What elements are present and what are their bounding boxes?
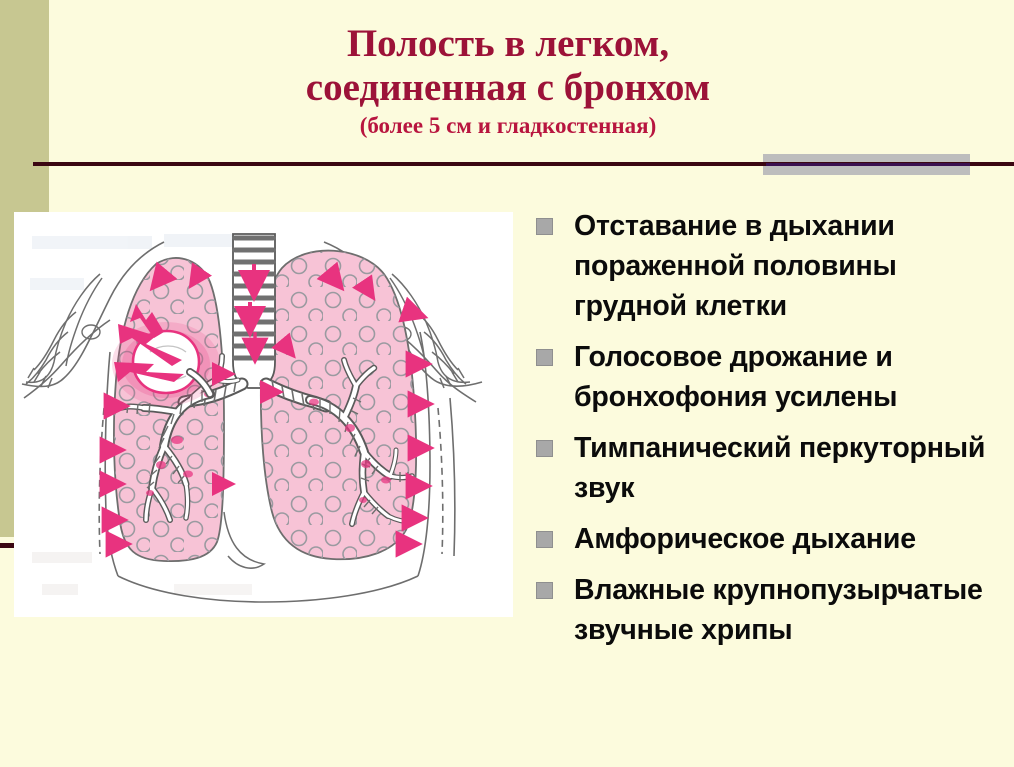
slide-title-block: Полость в легком, соединенная с бронхом … xyxy=(150,22,866,139)
clinical-signs-list: Отставание в дыхании пораженной половины… xyxy=(536,206,1006,661)
bullet-label: Голосовое дрожание и бронхофония усилены xyxy=(574,337,1006,417)
bullet-label: Тимпанический перкуторный звук xyxy=(574,428,1006,508)
bullet-square-icon xyxy=(536,440,553,457)
list-item: Влажные крупнопузырчатые звучные хрипы xyxy=(536,570,1006,650)
lungs-diagram-panel xyxy=(14,212,513,617)
title-line-2: соединенная с бронхом xyxy=(150,66,866,110)
list-item: Тимпанический перкуторный звук xyxy=(536,428,1006,508)
divider-accent-line xyxy=(766,163,970,166)
title-line-1: Полость в легком, xyxy=(150,22,866,66)
bullet-label: Амфорическое дыхание xyxy=(574,519,916,559)
list-item: Амфорическое дыхание xyxy=(536,519,1006,559)
trachea xyxy=(233,234,275,388)
bullet-square-icon xyxy=(536,582,553,599)
title-subtitle: (более 5 см и гладкостенная) xyxy=(150,112,866,139)
list-item: Голосовое дрожание и бронхофония усилены xyxy=(536,337,1006,417)
bullet-label: Влажные крупнопузырчатые звучные хрипы xyxy=(574,570,1006,650)
bullet-square-icon xyxy=(536,349,553,366)
bullet-square-icon xyxy=(536,531,553,548)
list-item: Отставание в дыхании пораженной половины… xyxy=(536,206,1006,326)
lungs-anatomical-illustration xyxy=(14,212,513,617)
bullet-square-icon xyxy=(536,218,553,235)
bullet-label: Отставание в дыхании пораженной половины… xyxy=(574,206,1006,326)
